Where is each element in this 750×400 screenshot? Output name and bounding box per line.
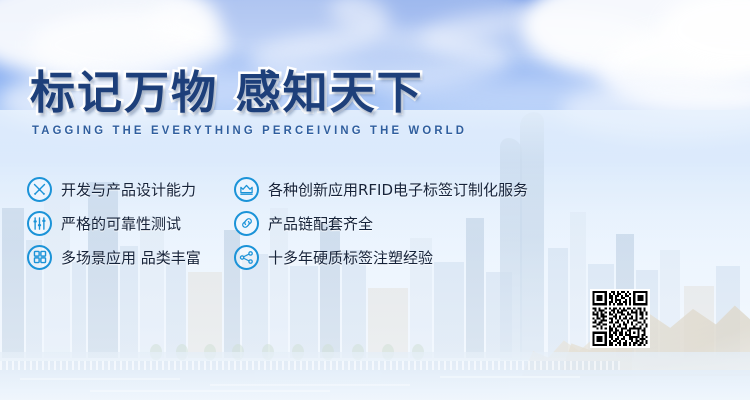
feature-label: 严格的可靠性测试 xyxy=(61,213,181,234)
feature-label: 开发与产品设计能力 xyxy=(61,179,196,200)
qr-code[interactable] xyxy=(590,289,650,348)
headline-block: 标记万物 感知天下 TAGGING THE EVERYTHING PERCEIV… xyxy=(30,70,495,137)
feature-item-reliability[interactable]: 严格的可靠性测试 xyxy=(27,206,201,240)
link-icon xyxy=(234,211,259,236)
page-title: 标记万物 感知天下 xyxy=(30,70,495,115)
crown-icon xyxy=(234,177,259,202)
feature-label: 十多年硬质标签注塑经验 xyxy=(268,247,433,268)
share-icon xyxy=(234,245,259,270)
feature-label: 各种创新应用RFID电子标签订制化服务 xyxy=(268,179,528,200)
sliders-icon xyxy=(27,211,52,236)
grid-icon xyxy=(27,245,52,270)
page-subtitle: TAGGING THE EVERYTHING PERCEIVING THE WO… xyxy=(32,123,467,137)
feature-label: 多场景应用 品类丰富 xyxy=(61,247,201,268)
feature-item-experience[interactable]: 十多年硬质标签注塑经验 xyxy=(234,240,528,274)
feature-label: 产品链配套齐全 xyxy=(268,213,373,234)
feature-column-left: 开发与产品设计能力 严格的可靠性测试 xyxy=(27,172,201,274)
feature-item-supply-chain[interactable]: 产品链配套齐全 xyxy=(234,206,528,240)
feature-item-scenarios[interactable]: 多场景应用 品类丰富 xyxy=(27,240,201,274)
promo-banner: 标记万物 感知天下 TAGGING THE EVERYTHING PERCEIV… xyxy=(0,0,750,400)
feature-item-development[interactable]: 开发与产品设计能力 xyxy=(27,172,201,206)
tools-icon xyxy=(27,177,52,202)
feature-item-rfid-custom[interactable]: 各种创新应用RFID电子标签订制化服务 xyxy=(234,172,528,206)
qr-code-image xyxy=(590,289,650,348)
feature-column-right: 各种创新应用RFID电子标签订制化服务 产品链配套齐全 xyxy=(234,172,528,274)
